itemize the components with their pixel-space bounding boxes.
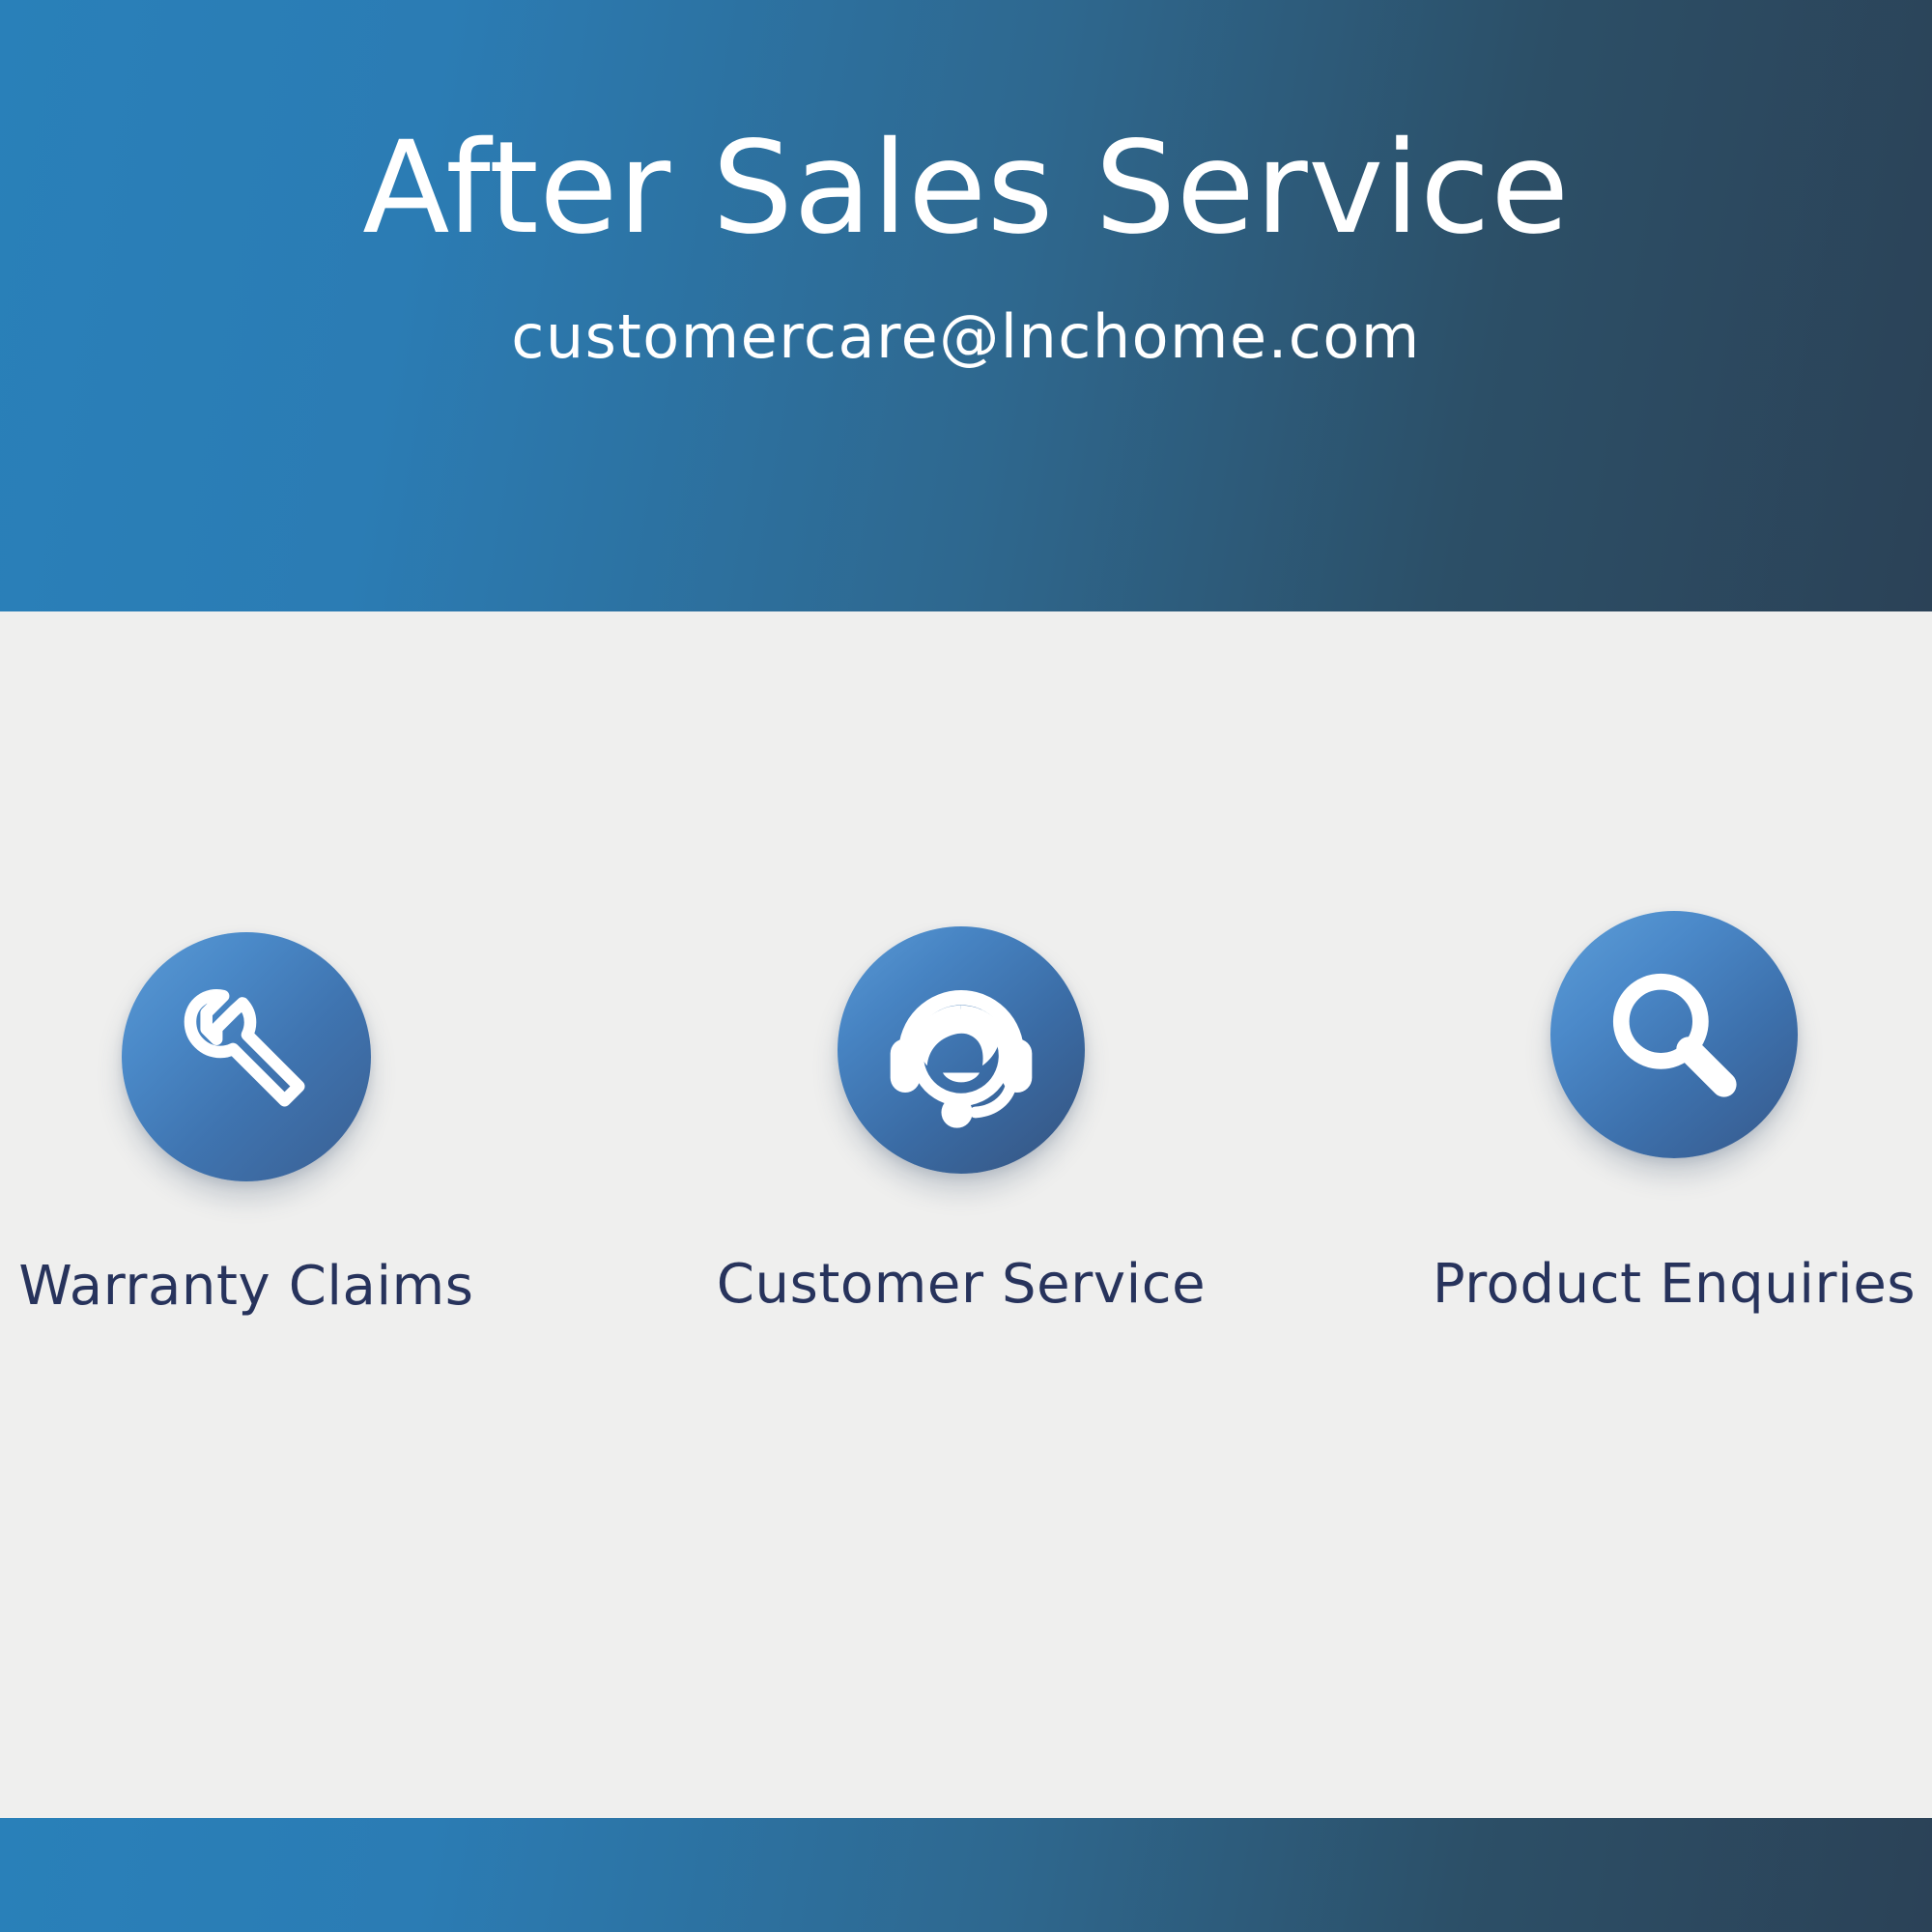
headset-support-agent-icon bbox=[876, 965, 1046, 1135]
page-title: After Sales Service bbox=[362, 122, 1570, 256]
header-banner: After Sales Service customercare@lnchome… bbox=[0, 0, 1932, 611]
content-area: Warranty Claims bbox=[0, 611, 1932, 1932]
magnifier-search-icon bbox=[1601, 961, 1747, 1108]
service-card-label: Warranty Claims bbox=[18, 1255, 473, 1318]
customer-service-icon-badge[interactable] bbox=[838, 926, 1085, 1174]
product-enquiries-icon-badge[interactable] bbox=[1550, 911, 1798, 1158]
wrench-icon bbox=[174, 984, 319, 1129]
after-sales-service-poster: After Sales Service customercare@lnchome… bbox=[0, 0, 1932, 1932]
service-card-row: Warranty Claims bbox=[0, 932, 1932, 1318]
service-card-label: Customer Service bbox=[717, 1253, 1206, 1316]
service-card-customer-service[interactable]: Customer Service bbox=[639, 926, 1283, 1310]
warranty-claims-icon-badge[interactable] bbox=[122, 932, 371, 1181]
service-card-warranty-claims[interactable]: Warranty Claims bbox=[0, 932, 568, 1318]
service-card-product-enquiries[interactable]: Product Enquiries bbox=[1352, 911, 1932, 1294]
footer-banner bbox=[0, 1818, 1932, 1932]
service-card-label: Product Enquiries bbox=[1433, 1253, 1916, 1316]
contact-email[interactable]: customercare@lnchome.com bbox=[511, 304, 1420, 370]
